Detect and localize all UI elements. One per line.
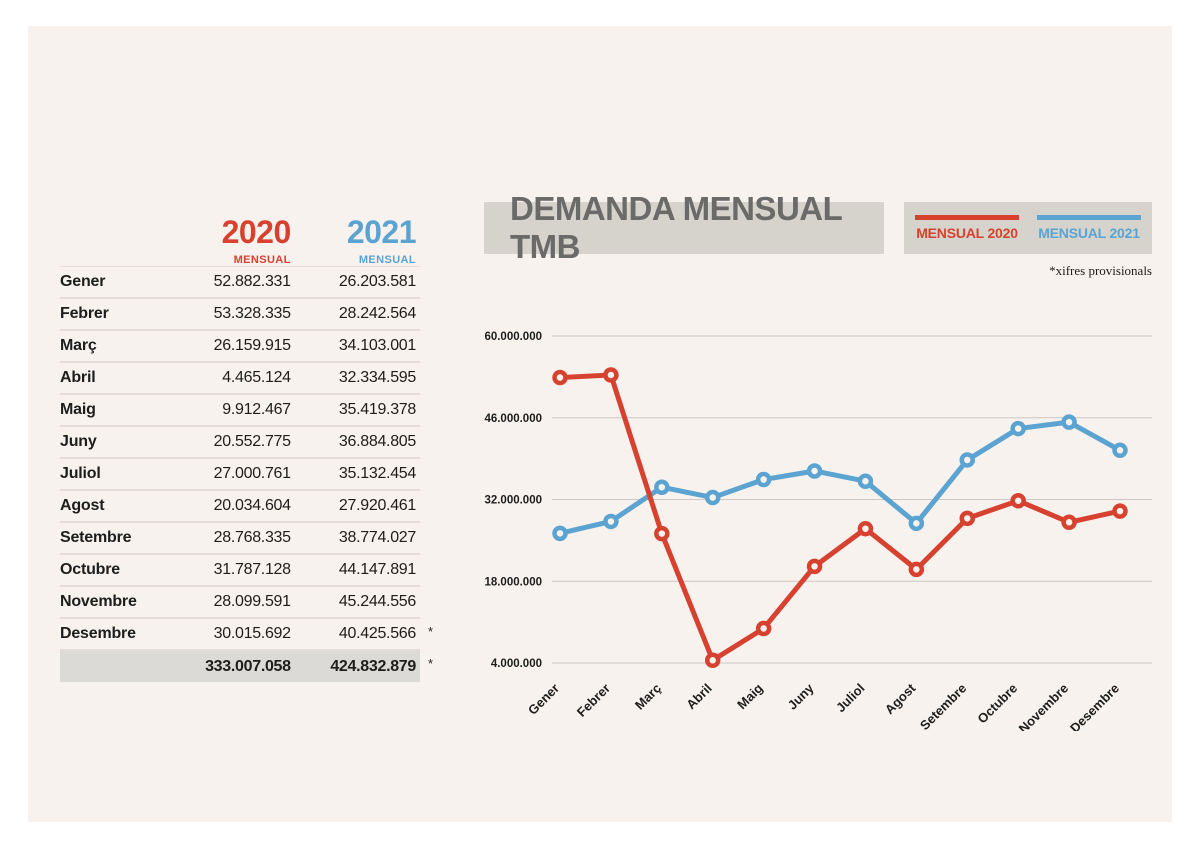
data-point-marker[interactable] xyxy=(656,482,667,493)
monthly-demand-table: 2020 MENSUAL 2021 MENSUAL Gener52.882.33… xyxy=(60,171,420,682)
row-value-2021: 27.920.461 xyxy=(295,497,420,515)
row-month-label: Març xyxy=(60,337,170,355)
provisional-asterisk: * xyxy=(428,656,433,671)
row-value-2021: 44.147.891 xyxy=(295,561,420,579)
row-value-2021: 40.425.566 xyxy=(295,625,420,643)
x-axis-tick-label: Novembre xyxy=(1016,681,1072,731)
x-axis-tick-label: Juny xyxy=(785,680,818,713)
provisional-asterisk: * xyxy=(428,624,433,639)
row-value-2020: 20.552.775 xyxy=(170,433,295,451)
data-point-marker[interactable] xyxy=(707,655,718,666)
table-row: Maig9.912.46735.419.378 xyxy=(60,394,420,426)
row-value-2021: 28.242.564 xyxy=(295,305,420,323)
data-point-marker[interactable] xyxy=(1115,445,1126,456)
data-point-marker[interactable] xyxy=(1064,417,1075,428)
data-point-marker[interactable] xyxy=(1013,423,1024,434)
row-month-label: Gener xyxy=(60,273,170,291)
row-value-2020: 52.882.331 xyxy=(170,273,295,291)
row-value-2020: 31.787.128 xyxy=(170,561,295,579)
data-point-marker[interactable] xyxy=(656,528,667,539)
row-value-2021: 36.884.805 xyxy=(295,433,420,451)
table-total-row: 333.007.058424.832.879 xyxy=(60,650,420,682)
row-value-2020: 333.007.058 xyxy=(170,658,295,676)
row-value-2020: 53.328.335 xyxy=(170,305,295,323)
table-row: Gener52.882.33126.203.581 xyxy=(60,266,420,298)
y-axis-tick-label: 18.000.000 xyxy=(484,576,542,588)
row-month-label: Setembre xyxy=(60,529,170,547)
data-point-marker[interactable] xyxy=(758,623,769,634)
y-axis-tick-label: 46.000.000 xyxy=(484,413,542,425)
x-axis-tick-label: Agost xyxy=(882,680,919,717)
data-point-marker[interactable] xyxy=(1064,517,1075,528)
row-value-2020: 28.099.591 xyxy=(170,593,295,611)
row-month-label: Octubre xyxy=(60,561,170,579)
row-month-label: Febrer xyxy=(60,305,170,323)
y-axis-tick-label: 32.000.000 xyxy=(484,495,542,507)
x-axis-tick-label: Febrer xyxy=(574,681,613,720)
row-value-2021: 424.832.879 xyxy=(295,658,420,676)
row-value-2020: 9.912.467 xyxy=(170,401,295,419)
table-row: Març26.159.91534.103.001 xyxy=(60,330,420,362)
row-value-2021: 34.103.001 xyxy=(295,337,420,355)
x-axis-tick-label: Març xyxy=(632,681,664,713)
table-row: Desembre30.015.69240.425.566 xyxy=(60,618,420,650)
row-value-2020: 26.159.915 xyxy=(170,337,295,355)
header-year-2020: 2020 xyxy=(170,216,291,250)
data-point-marker[interactable] xyxy=(605,369,616,380)
table-row: Agost20.034.60427.920.461 xyxy=(60,490,420,522)
table-row: Setembre28.768.33538.774.027 xyxy=(60,522,420,554)
data-point-marker[interactable] xyxy=(605,516,616,527)
table-row: Octubre31.787.12844.147.891 xyxy=(60,554,420,586)
chart-panel: DEMANDA MENSUAL TMB MENSUAL 2020 MENSUAL… xyxy=(448,171,1160,731)
data-point-marker[interactable] xyxy=(758,474,769,485)
data-point-marker[interactable] xyxy=(962,454,973,465)
data-point-marker[interactable] xyxy=(809,465,820,476)
data-point-marker[interactable] xyxy=(911,564,922,575)
x-axis-tick-label: Abril xyxy=(683,681,715,713)
x-axis-tick-label: Gener xyxy=(525,681,562,718)
row-month-label: Juny xyxy=(60,433,170,451)
data-point-marker[interactable] xyxy=(860,476,871,487)
infographic-panel: 2020 MENSUAL 2021 MENSUAL Gener52.882.33… xyxy=(28,26,1172,822)
row-value-2020: 4.465.124 xyxy=(170,369,295,387)
row-value-2021: 35.132.454 xyxy=(295,465,420,483)
table-header-2021: 2021 MENSUAL xyxy=(295,216,420,266)
row-month-label: Novembre xyxy=(60,593,170,611)
row-month-label: Agost xyxy=(60,497,170,515)
table-body: Gener52.882.33126.203.581Febrer53.328.33… xyxy=(60,266,420,682)
x-axis-tick-label: Octubre xyxy=(974,681,1020,727)
table-row: Juliol27.000.76135.132.454 xyxy=(60,458,420,490)
row-value-2020: 27.000.761 xyxy=(170,465,295,483)
table-row: Abril4.465.12432.334.595 xyxy=(60,362,420,394)
row-month-label: Juliol xyxy=(60,465,170,483)
row-value-2020: 20.034.604 xyxy=(170,497,295,515)
data-point-marker[interactable] xyxy=(707,492,718,503)
row-value-2020: 30.015.692 xyxy=(170,625,295,643)
row-value-2021: 26.203.581 xyxy=(295,273,420,291)
data-point-marker[interactable] xyxy=(1013,495,1024,506)
data-point-marker[interactable] xyxy=(555,528,566,539)
data-point-marker[interactable] xyxy=(555,372,566,383)
data-point-marker[interactable] xyxy=(1115,506,1126,517)
x-axis-tick-label: Maig xyxy=(734,680,766,712)
header-sub-2020: MENSUAL xyxy=(170,254,291,266)
row-value-2020: 28.768.335 xyxy=(170,529,295,547)
data-point-marker[interactable] xyxy=(860,523,871,534)
x-axis-tick-label: Juliol xyxy=(833,681,868,716)
row-value-2021: 32.334.595 xyxy=(295,369,420,387)
x-axis-tick-label: Desembre xyxy=(1067,681,1122,731)
data-point-marker[interactable] xyxy=(911,518,922,529)
table-header-row: 2020 MENSUAL 2021 MENSUAL xyxy=(60,171,420,266)
table-header-2020: 2020 MENSUAL xyxy=(170,216,295,266)
y-axis-tick-label: 4.000.000 xyxy=(491,658,542,670)
table-row: Novembre28.099.59145.244.556 xyxy=(60,586,420,618)
header-year-2021: 2021 xyxy=(295,216,416,250)
data-point-marker[interactable] xyxy=(962,513,973,524)
line-chart-plot: 4.000.00018.000.00032.000.00046.000.0006… xyxy=(448,171,1160,731)
row-value-2021: 38.774.027 xyxy=(295,529,420,547)
y-axis-tick-label: 60.000.000 xyxy=(484,331,542,343)
table-row: Juny20.552.77536.884.805 xyxy=(60,426,420,458)
row-month-label: Maig xyxy=(60,401,170,419)
row-value-2021: 35.419.378 xyxy=(295,401,420,419)
x-axis-tick-label: Setembre xyxy=(917,681,970,731)
row-month-label: Abril xyxy=(60,369,170,387)
row-month-label: Desembre xyxy=(60,625,170,643)
data-point-marker[interactable] xyxy=(809,561,820,572)
header-sub-2021: MENSUAL xyxy=(295,254,416,266)
table-row: Febrer53.328.33528.242.564 xyxy=(60,298,420,330)
row-value-2021: 45.244.556 xyxy=(295,593,420,611)
